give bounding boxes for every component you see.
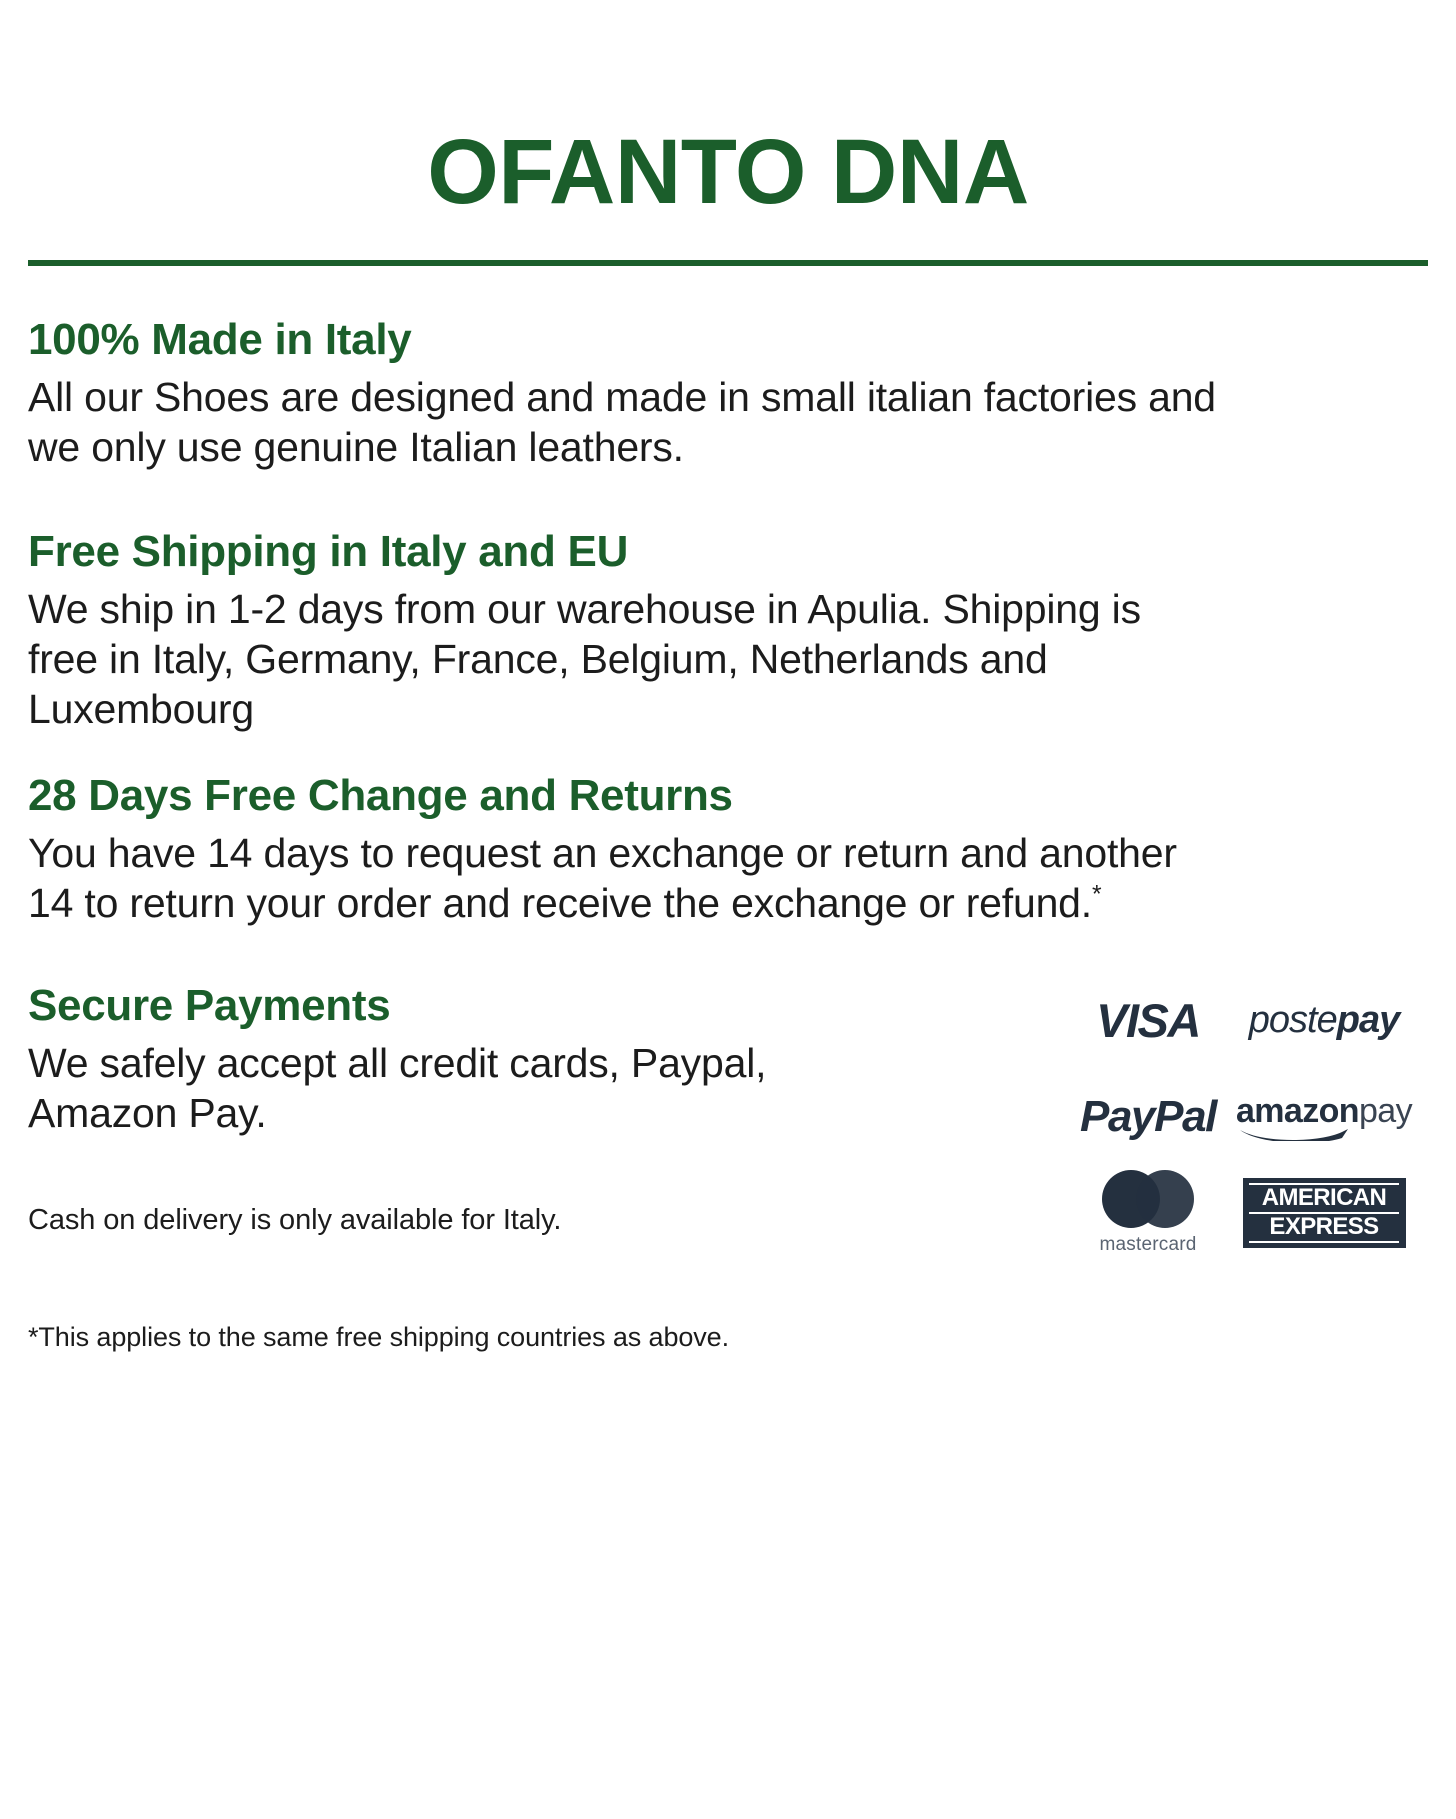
section-body-made-in-italy: All our Shoes are designed and made in s… <box>28 372 1218 472</box>
section-body-returns-text: You have 14 days to request an exchange … <box>28 830 1177 926</box>
section-heading-made-in-italy: 100% Made in Italy <box>28 314 1428 366</box>
payment-logos: VISA postepay PayPal amazonpay <box>1072 992 1424 1242</box>
mastercard-circle-right <box>1136 1170 1194 1228</box>
section-heading-free-shipping: Free Shipping in Italy and EU <box>28 526 1428 578</box>
section-body-free-shipping: We ship in 1-2 days from our warehouse i… <box>28 584 1218 734</box>
returns-footnote-marker: * <box>1092 881 1101 908</box>
mastercard-logo-cell: mastercard <box>1072 1184 1224 1242</box>
section-heading-secure-payments: Secure Payments <box>28 980 768 1032</box>
postepay-icon: postepay <box>1249 999 1399 1042</box>
section-free-shipping: Free Shipping in Italy and EU We ship in… <box>28 526 1428 734</box>
mastercard-icon: mastercard <box>1099 1170 1196 1256</box>
amex-label-line2: EXPRESS <box>1249 1214 1399 1243</box>
payment-logo-grid: VISA postepay PayPal amazonpay <box>1072 992 1424 1242</box>
mastercard-circles <box>1102 1170 1194 1228</box>
amazon-pay-label-amazon: amazon <box>1236 1092 1359 1130</box>
sections-container: 100% Made in Italy All our Shoes are des… <box>28 314 1428 1242</box>
amazon-pay-logo-cell: amazonpay <box>1224 1088 1424 1146</box>
section-secure-payments: Secure Payments We safely accept all cre… <box>28 980 1428 1242</box>
amazon-pay-label-pay: pay <box>1359 1092 1412 1130</box>
payments-copy: Secure Payments We safely accept all cre… <box>28 980 768 1240</box>
paypal-logo-cell: PayPal <box>1072 1088 1224 1146</box>
section-body-returns: You have 14 days to request an exchange … <box>28 828 1218 928</box>
postepay-label-poste: poste <box>1249 999 1337 1041</box>
visa-logo-cell: VISA <box>1072 992 1224 1050</box>
section-body-secure-payments: We safely accept all credit cards, Paypa… <box>28 1038 768 1138</box>
payments-row: Secure Payments We safely accept all cre… <box>28 980 1428 1242</box>
section-returns: 28 Days Free Change and Returns You have… <box>28 770 1428 928</box>
postepay-label-pay: pay <box>1337 999 1399 1041</box>
american-express-logo-cell: AMERICAN EXPRESS <box>1224 1184 1424 1242</box>
section-made-in-italy: 100% Made in Italy All our Shoes are des… <box>28 314 1428 472</box>
visa-icon: VISA <box>1096 993 1200 1048</box>
postepay-logo-cell: postepay <box>1224 992 1424 1050</box>
page-title: OFANTO DNA <box>28 0 1428 218</box>
section-heading-returns: 28 Days Free Change and Returns <box>28 770 1428 822</box>
paypal-icon: PayPal <box>1080 1092 1216 1142</box>
amex-label-line1: AMERICAN <box>1249 1183 1399 1214</box>
mastercard-label: mastercard <box>1099 1234 1196 1256</box>
amazon-pay-icon: amazonpay <box>1236 1092 1412 1141</box>
american-express-icon: AMERICAN EXPRESS <box>1243 1178 1406 1248</box>
amazon-smile-icon <box>1238 1127 1356 1141</box>
title-divider <box>28 260 1428 266</box>
cash-on-delivery-note: Cash on delivery is only available for I… <box>28 1202 768 1240</box>
footnote: *This applies to the same free shipping … <box>28 1320 1428 1355</box>
ofanto-dna-page: OFANTO DNA 100% Made in Italy All our Sh… <box>0 0 1456 1819</box>
